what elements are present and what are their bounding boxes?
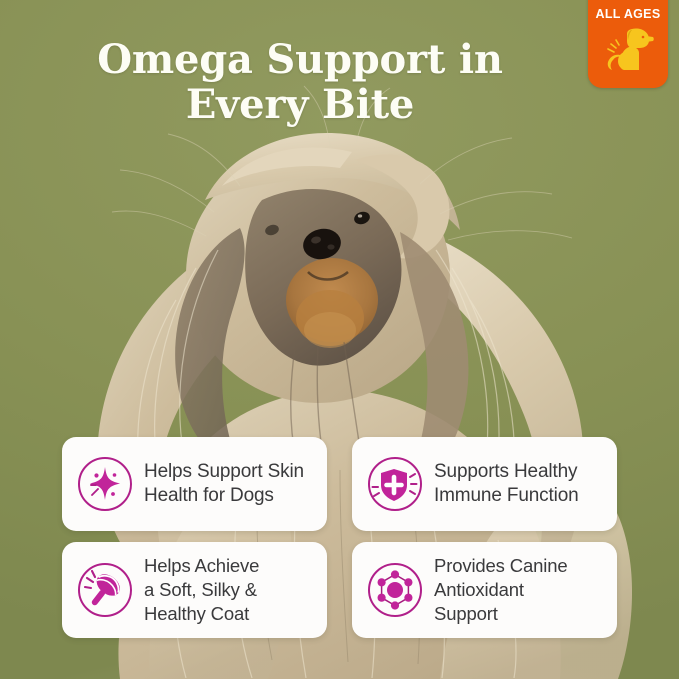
benefit-card-antioxidant-support: Provides Canine Antioxidant Support: [352, 542, 617, 638]
benefit-card-healthy-coat: Helps Achieve a Soft, Silky & Healthy Co…: [62, 542, 327, 638]
benefit-line: Provides Canine: [434, 554, 568, 578]
shield-plus-icon: [366, 455, 424, 513]
benefit-line: Helps Support Skin: [144, 460, 304, 484]
title-line-2: Every Bite: [0, 83, 600, 128]
benefit-line: Healthy Coat: [144, 602, 259, 626]
sitting-dog-icon: [602, 23, 654, 73]
benefit-text: Helps Support Skin Health for Dogs: [144, 460, 304, 509]
all-ages-label: ALL AGES: [596, 8, 661, 21]
benefit-line: Helps Achieve: [144, 554, 259, 578]
benefit-text: Provides Canine Antioxidant Support: [434, 554, 568, 626]
benefit-card-immune-function: Supports Healthy Immune Function: [352, 437, 617, 531]
benefit-line: Immune Function: [434, 484, 579, 508]
molecule-icon: [366, 561, 424, 619]
page-title: Omega Support in Every Bite: [0, 38, 600, 128]
sparkle-icon: [76, 455, 134, 513]
brush-icon: [76, 561, 134, 619]
benefit-card-skin-health: Helps Support Skin Health for Dogs: [62, 437, 327, 531]
benefit-text: Helps Achieve a Soft, Silky & Healthy Co…: [144, 554, 259, 626]
benefits-grid: Helps Support Skin Health for Dogs: [62, 437, 617, 638]
all-ages-badge: ALL AGES: [588, 0, 668, 88]
product-feature-poster: ALL AGES: [0, 0, 679, 679]
title-line-1: Omega Support in: [97, 36, 503, 83]
benefit-line: Health for Dogs: [144, 484, 304, 508]
benefit-line: Antioxidant: [434, 578, 568, 602]
benefit-line: a Soft, Silky &: [144, 578, 259, 602]
benefit-text: Supports Healthy Immune Function: [434, 460, 579, 509]
benefit-line: Supports Healthy: [434, 460, 579, 484]
benefit-line: Support: [434, 602, 568, 626]
